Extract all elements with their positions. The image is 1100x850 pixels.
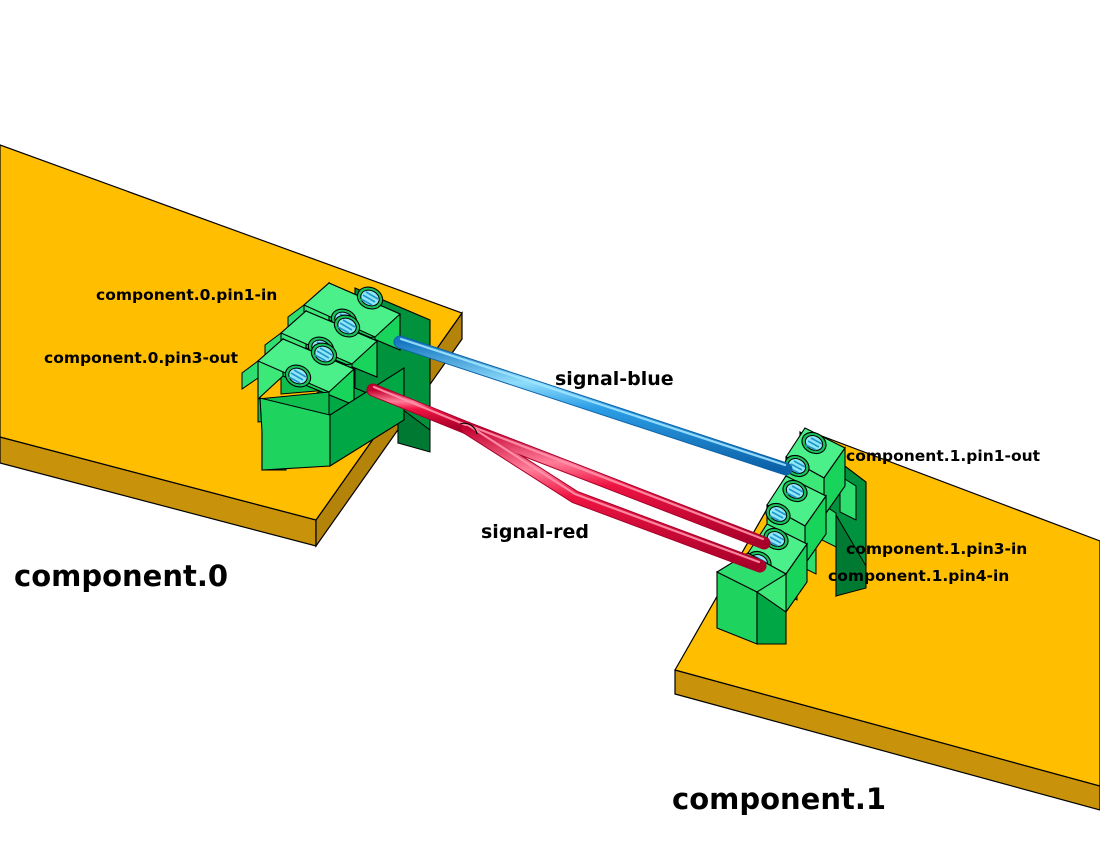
label-component-1-pin3-in: component.1.pin3-in (846, 540, 1027, 558)
label-component-1: component.1 (672, 782, 886, 816)
diagram-canvas: component.0.pin1-in component.0.pin3-out… (0, 0, 1100, 850)
label-component-0: component.0 (14, 559, 228, 593)
label-signal-blue: signal-blue (555, 368, 674, 390)
label-signal-red: signal-red (481, 521, 589, 543)
label-component-1-pin1-out: component.1.pin1-out (846, 447, 1041, 465)
label-component-1-pin4-in: component.1.pin4-in (828, 567, 1009, 585)
wiring-diagram-svg: component.0.pin1-in component.0.pin3-out… (0, 0, 1100, 850)
label-component-0-pin1-in: component.0.pin1-in (96, 286, 277, 304)
label-component-0-pin3-out: component.0.pin3-out (44, 349, 239, 367)
